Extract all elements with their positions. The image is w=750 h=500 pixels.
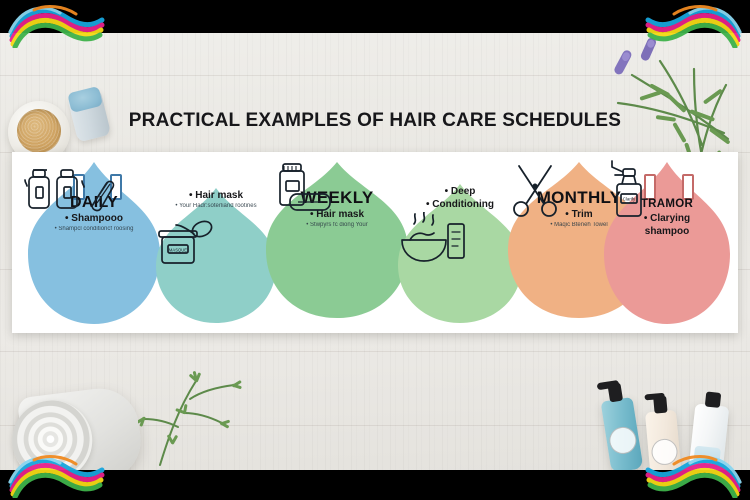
panel-subtext: • Your Hadr:soterliand rootines xyxy=(175,203,256,210)
rainbow-swoosh-watermark xyxy=(4,2,108,48)
schedule-panel-tramor[interactable]: TRAMOR Clarify • Clarying shampoo xyxy=(600,156,734,328)
panel-subtext: • Stwpyrs fc diong Your xyxy=(306,222,367,229)
bottle-label-text: Clarify xyxy=(623,197,636,202)
bottom-letterbox-bar xyxy=(0,470,750,500)
schedule-panel-hair-mask-1[interactable]: MASQUE • Hair mask • Your Hadr:soterlian… xyxy=(152,184,280,326)
panel-item: • Deep • Conditioning xyxy=(426,186,494,211)
hair-mask-jar-icon: MASQUE xyxy=(152,218,222,268)
shampoo-bottles-and-comb-icon xyxy=(20,160,116,212)
rosemary-sprig-prop xyxy=(138,343,248,470)
panel-subtext: • Shampcl conditioncf roosing xyxy=(55,226,134,233)
schedule-panel-weekly[interactable]: WEEKLY • Hair mask • Stwpyrs fc diong Yo… xyxy=(262,158,412,322)
panel-item: • Hair mask xyxy=(189,190,243,201)
schedule-blob-row: DAILY xyxy=(12,152,738,333)
mask-tub-icon xyxy=(262,161,336,215)
panel-item: • Shampooo xyxy=(65,213,123,224)
scissors-icon xyxy=(504,162,566,218)
jar-label-text: MASQUE xyxy=(169,248,187,253)
screenshot-root: PRACTICAL EXAMPLES OF HAIR CARE SCHEDULE… xyxy=(0,0,750,500)
rainbow-swoosh-watermark xyxy=(642,452,746,498)
schedule-panel-daily[interactable]: DAILY xyxy=(20,156,168,328)
rainbow-swoosh-watermark xyxy=(4,452,108,498)
rainbow-swoosh-watermark xyxy=(642,2,746,48)
spray-bottle-icon: Clarify xyxy=(600,159,658,219)
panel-item: • Trim xyxy=(565,209,592,220)
schedule-card: DAILY xyxy=(12,152,738,333)
steaming-bowl-icon xyxy=(394,212,470,270)
top-letterbox-bar xyxy=(0,0,750,33)
poster-title: PRACTICAL EXAMPLES OF HAIR CARE SCHEDULE… xyxy=(0,110,750,132)
